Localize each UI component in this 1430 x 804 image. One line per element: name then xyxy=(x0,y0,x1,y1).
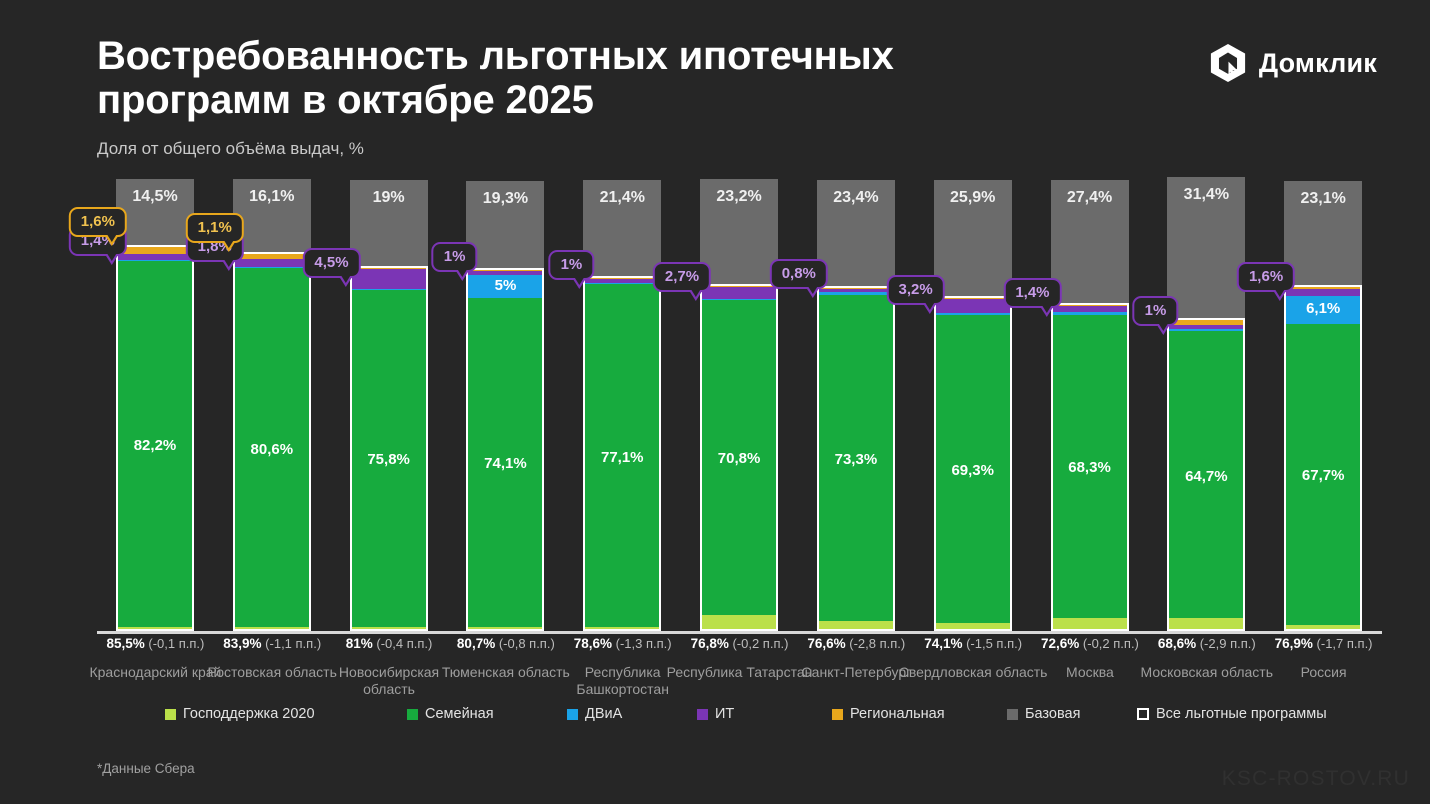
bar-segment-двиа xyxy=(352,289,426,290)
callout-tail-inner xyxy=(107,234,117,242)
bar-segment-господдержка-2020: 1,8% xyxy=(819,621,893,629)
bar-stack-benefit-programs: 80,6% xyxy=(233,252,311,631)
bar-segment-label: 23,2% xyxy=(700,188,778,206)
bar-segment-семейная: 64,7% xyxy=(1169,331,1243,618)
bar-segment-label: 80,6% xyxy=(235,441,309,458)
bar-segment-двиа xyxy=(118,260,192,261)
callout-it: 1% xyxy=(432,242,478,272)
chart-column: 19%75,8%4,5% xyxy=(331,190,447,631)
category-total-value: 68,6% xyxy=(1158,636,1196,651)
legend-item[interactable]: Господдержка 2020 xyxy=(165,706,315,722)
callout-tail-inner xyxy=(925,302,935,310)
callout-label: 1% xyxy=(561,256,583,273)
bar-segment-господдержка-2020 xyxy=(118,627,192,629)
callout-tail-inner xyxy=(1158,323,1168,331)
page-subtitle: Доля от общего объёма выдач, % xyxy=(97,139,1097,159)
axis-baseline xyxy=(97,631,1382,634)
bar-segment-base: 23,4% xyxy=(817,180,895,285)
callout-label: 1% xyxy=(444,248,466,265)
bar-segment-региональная xyxy=(118,247,192,254)
category-label-group: 76,9% (-1,7 п.п.)Россия xyxy=(1249,636,1399,681)
footnote: *Данные Сбера xyxy=(97,761,195,776)
legend-label: ДВиА xyxy=(585,706,622,722)
bar-segment-двиа: 6,1% xyxy=(1286,296,1360,323)
bar-segment-ит xyxy=(585,279,659,283)
callout-it: 4,5% xyxy=(302,248,360,278)
bar-segment-label: 6,1% xyxy=(1286,300,1360,317)
chart-column: 21,4%77,1%1% xyxy=(564,190,680,631)
legend-label: Базовая xyxy=(1025,706,1080,722)
bar-segment-ит xyxy=(936,299,1010,313)
bar-stack-benefit-programs: 74,1%5% xyxy=(466,268,544,631)
bar-segment-ит xyxy=(1053,306,1127,312)
bar-segment-ит xyxy=(1169,325,1243,329)
callout-label: 1,4% xyxy=(1015,284,1049,301)
bar-segment-label: 75,8% xyxy=(352,451,426,468)
bar-segment-base: 31,4% xyxy=(1167,177,1245,318)
bar-segment-ит xyxy=(1286,289,1360,296)
bar-segment-label: 64,7% xyxy=(1169,468,1243,485)
bar-segment-label: 23,4% xyxy=(817,189,895,207)
chart-column: 23,2%3,2%70,8%2,7% xyxy=(681,190,797,631)
legend-swatch-icon xyxy=(832,709,843,720)
bar-stack-benefit-programs: 1,4%69,3% xyxy=(934,296,1012,631)
category-total-value: 76,9% xyxy=(1275,636,1313,651)
callout-it: 3,2% xyxy=(887,275,945,305)
bar-segment-base: 23,2% xyxy=(700,179,778,283)
bar-segment-ит xyxy=(235,259,309,267)
bar-segment-base: 14,5% xyxy=(116,179,194,244)
bar-segment-label: 69,3% xyxy=(936,462,1010,479)
legend-item[interactable]: Семейная xyxy=(407,706,494,722)
callout-label: 0,8% xyxy=(782,265,816,282)
callout-tail-inner xyxy=(457,269,467,277)
bar-segment-base: 19% xyxy=(350,180,428,265)
bar-segment-двиа xyxy=(1053,312,1127,315)
callout-regional: 1,6% xyxy=(69,207,127,237)
legend-item[interactable]: Базовая xyxy=(1007,706,1080,722)
bar-segment-label: 25,9% xyxy=(934,189,1012,207)
bar-segment-семейная: 69,3% xyxy=(936,315,1010,623)
bar-segment-label: 77,1% xyxy=(585,449,659,466)
bar-segment-base: 19,3% xyxy=(466,181,544,268)
category-total-value: 80,7% xyxy=(457,636,495,651)
category-axis-labels: 85,5% (-0,1 п.п.)Краснодарский край83,9%… xyxy=(97,636,1382,708)
bar-segment-label: 27,4% xyxy=(1051,189,1129,207)
legend-swatch-icon xyxy=(697,709,708,720)
bar-segment-label: 70,8% xyxy=(702,450,776,467)
callout-label: 1,6% xyxy=(1249,268,1283,285)
bar-segment-господдержка-2020: 2,4% xyxy=(1053,618,1127,629)
bar-segment-семейная: 77,1% xyxy=(585,284,659,627)
legend-item[interactable]: Региональная xyxy=(832,706,945,722)
category-total-value: 83,9% xyxy=(223,636,261,651)
bar-segment-label: 23,1% xyxy=(1284,190,1362,208)
chart-column: 25,9%1,4%69,3%3,2% xyxy=(915,190,1031,631)
callout-tail-inner xyxy=(691,289,701,297)
bar-segment-base: 23,1% xyxy=(1284,181,1362,285)
bar-segment-ит xyxy=(468,271,542,275)
bar-segment-региональная xyxy=(585,278,659,279)
legend-swatch-icon xyxy=(407,709,418,720)
callout-it: 1% xyxy=(549,250,595,280)
callout-tail-inner xyxy=(1042,305,1052,313)
bar-segment-label: 31,4% xyxy=(1167,186,1245,204)
infographic-root: Востребованность льготных ипотечных прог… xyxy=(0,0,1430,804)
callout-it: 1,6% xyxy=(1237,262,1295,292)
callout-label: 3,2% xyxy=(899,281,933,298)
legend-swatch-icon xyxy=(1137,708,1149,720)
callout-tail-inner xyxy=(808,286,818,294)
callout-tail-inner xyxy=(224,259,234,267)
bar-segment-региональная xyxy=(1169,320,1243,324)
callout-label: 1,1% xyxy=(198,219,232,236)
brand-name: Домклик xyxy=(1259,48,1377,79)
bar-stack-benefit-programs: 1,8%73,3% xyxy=(817,286,895,631)
category-total-value: 81% xyxy=(346,636,373,651)
bar-segment-региональная xyxy=(235,254,309,259)
bar-segment-семейная: 80,6% xyxy=(235,268,309,627)
bar-segment-семейная: 74,1% xyxy=(468,298,542,628)
legend-label: Все льготные программы xyxy=(1156,706,1327,722)
bar-segment-господдержка-2020: 2,4% xyxy=(1169,618,1243,629)
bar-segment-двиа xyxy=(235,267,309,269)
bar-segment-base: 21,4% xyxy=(583,180,661,276)
bar-stack-benefit-programs: 3,2%70,8% xyxy=(700,284,778,631)
bar-stack-benefit-programs: 75,8% xyxy=(350,266,428,631)
category-name: Россия xyxy=(1249,664,1399,681)
legend-swatch-icon xyxy=(1007,709,1018,720)
page-title: Востребованность льготных ипотечных прог… xyxy=(97,34,1097,122)
bar-segment-господдержка-2020 xyxy=(468,627,542,629)
legend-item[interactable]: Все льготные программы xyxy=(1137,706,1327,722)
bar-segment-label: 67,7% xyxy=(1286,467,1360,484)
bar-segment-региональная xyxy=(468,270,542,271)
callout-it: 1% xyxy=(1133,296,1179,326)
bar-segment-господдержка-2020: 3,2% xyxy=(702,615,776,629)
category-total-value: 85,5% xyxy=(106,636,144,651)
callout-tail-inner xyxy=(107,253,117,261)
legend-label: Семейная xyxy=(425,706,494,722)
bar-segment-label: 19% xyxy=(350,189,428,207)
bar-stack-benefit-programs: 2,4%68,3% xyxy=(1051,303,1129,631)
bar-segment-семейная: 70,8% xyxy=(702,300,776,615)
bar-segment-семейная: 82,2% xyxy=(118,261,192,627)
bar-segment-региональная xyxy=(1286,287,1360,289)
header-block: Востребованность льготных ипотечных прог… xyxy=(97,34,1097,159)
callout-regional: 1,1% xyxy=(186,213,244,243)
bar-segment-семейная: 68,3% xyxy=(1053,315,1127,619)
watermark: KSC-ROSTOV.RU xyxy=(1222,767,1410,791)
bar-segment-региональная xyxy=(702,286,776,287)
bar-segment-господдержка-2020: 1,4% xyxy=(936,623,1010,629)
callout-it: 1,4% xyxy=(1003,278,1061,308)
category-total-value: 76,8% xyxy=(691,636,729,651)
bar-segment-label: 73,3% xyxy=(819,451,893,468)
legend-item[interactable]: ИТ xyxy=(697,706,734,722)
callout-label: 1,6% xyxy=(81,213,115,230)
bar-segment-региональная xyxy=(936,298,1010,299)
domclick-house-icon xyxy=(1209,43,1247,83)
bar-segment-двиа xyxy=(585,283,659,284)
bar-segment-двиа xyxy=(702,299,776,300)
bar-segment-господдержка-2020: 1% xyxy=(1286,625,1360,629)
callout-tail-inner xyxy=(1275,289,1285,297)
category-total-value: 76,6% xyxy=(807,636,845,651)
callout-tail-inner xyxy=(341,275,351,283)
legend-swatch-icon xyxy=(567,709,578,720)
bar-segment-base: 25,9% xyxy=(934,180,1012,297)
callout-tail-inner xyxy=(224,240,234,248)
bar-stack-benefit-programs: 77,1% xyxy=(583,276,661,631)
bar-stack-benefit-programs: 1%67,7%6,1% xyxy=(1284,285,1362,631)
bar-segment-двиа xyxy=(936,313,1010,314)
bar-segment-ит xyxy=(352,269,426,289)
bar-segment-label: 68,3% xyxy=(1053,459,1127,476)
bar-segment-label: 82,2% xyxy=(118,437,192,454)
callout-it: 2,7% xyxy=(653,262,711,292)
bar-segment-label: 21,4% xyxy=(583,189,661,207)
callout-label: 4,5% xyxy=(314,254,348,271)
callout-it: 0,8% xyxy=(770,259,828,289)
callout-label: 1% xyxy=(1145,302,1167,319)
bar-segment-base: 16,1% xyxy=(233,179,311,251)
chart-column: 19,3%74,1%5%1% xyxy=(447,190,563,631)
bar-segment-господдержка-2020 xyxy=(585,627,659,629)
chart-column: 23,1%1%67,7%6,1%1,6% xyxy=(1265,190,1381,631)
bar-segment-label: 14,5% xyxy=(116,188,194,206)
callout-label: 2,7% xyxy=(665,268,699,285)
bar-segment-ит xyxy=(702,287,776,299)
chart-plot-area: 14,5%82,2%1,4%1,6%16,1%80,6%1,8%1,1%19%7… xyxy=(97,190,1382,634)
bar-segment-ит xyxy=(118,254,192,260)
legend-label: Региональная xyxy=(850,706,945,722)
bar-segment-ит xyxy=(819,288,893,292)
category-total-value: 78,6% xyxy=(574,636,612,651)
bar-segment-двиа xyxy=(1169,329,1243,331)
bar-segment-региональная xyxy=(352,268,426,269)
callout-tail-inner xyxy=(574,277,584,285)
chart-column: 31,4%2,4%64,7%1% xyxy=(1148,190,1264,631)
bar-segment-семейная: 73,3% xyxy=(819,295,893,621)
legend-label: Господдержка 2020 xyxy=(183,706,315,722)
category-total-value: 74,1% xyxy=(924,636,962,651)
category-total: 76,9% (-1,7 п.п.) xyxy=(1249,636,1399,652)
bar-segment-двиа xyxy=(819,292,893,295)
bar-segment-label: 19,3% xyxy=(466,190,544,208)
category-total-value: 72,6% xyxy=(1041,636,1079,651)
bar-segment-семейная: 67,7% xyxy=(1286,324,1360,625)
chart-column: 27,4%2,4%68,3%1,4% xyxy=(1032,190,1148,631)
bar-stack-benefit-programs: 82,2% xyxy=(116,245,194,631)
bar-segment-региональная xyxy=(819,288,893,289)
chart-column: 23,4%1,8%73,3%0,8% xyxy=(798,190,914,631)
bar-segment-семейная: 75,8% xyxy=(352,290,426,627)
legend-label: ИТ xyxy=(715,706,734,722)
bar-segment-base: 27,4% xyxy=(1051,180,1129,303)
bar-segment-label: 5% xyxy=(468,277,542,294)
bar-segment-региональная xyxy=(1053,305,1127,306)
brand-logo: Домклик xyxy=(1209,43,1377,83)
bar-segment-господдержка-2020 xyxy=(235,627,309,629)
bar-segment-двиа: 5% xyxy=(468,275,542,297)
bar-segment-label: 74,1% xyxy=(468,455,542,472)
bar-segment-label: 16,1% xyxy=(233,188,311,206)
legend-swatch-icon xyxy=(165,709,176,720)
legend-item[interactable]: ДВиА xyxy=(567,706,622,722)
bar-stack-benefit-programs: 2,4%64,7% xyxy=(1167,318,1245,631)
bar-segment-господдержка-2020 xyxy=(352,627,426,629)
